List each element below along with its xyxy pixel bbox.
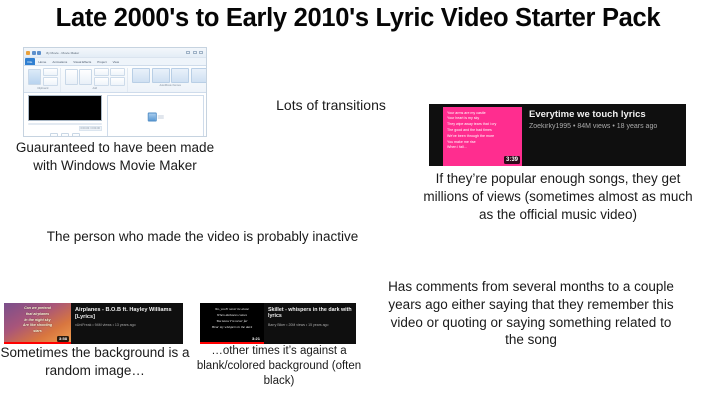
preview-transport-controls [50,133,80,137]
video-thumbnail[interactable]: No, you'll never be alone When darkness … [200,303,264,344]
ribbon-group-label-add: Add [92,87,97,90]
snapshot-button[interactable] [110,77,125,86]
video-title[interactable]: Everytime we touch lyrics [529,109,680,120]
ribbon-group-automovie-themes: AutoMovie themes [130,68,207,92]
next-frame-icon[interactable] [72,133,80,137]
redo-icon[interactable] [37,51,41,55]
theme-thumbnail-1[interactable] [132,68,150,83]
tab-file[interactable]: File [25,58,35,65]
preview-scrubber[interactable] [28,123,102,124]
video-thumbnail[interactable]: Your arms are my castle Your heart is my… [429,104,522,166]
ribbon-group-label-clipboard: Clipboard [37,87,48,90]
theme-thumbnail-3[interactable] [171,68,189,83]
paste-icon[interactable] [28,69,41,85]
random-background-caption: Sometimes the background is a random ima… [0,344,190,380]
add-videos-photos-icon[interactable] [65,69,78,85]
undo-icon[interactable] [32,51,36,55]
video-thumbnail[interactable]: Can we pretend that airplanes In the nig… [4,303,71,344]
tab-view[interactable]: View [110,58,121,65]
video-meta: Skillet - whispers in the dark with lyri… [264,303,356,344]
transitions-caption: Lots of transitions [245,96,417,114]
title-button[interactable] [94,68,109,77]
add-music-icon[interactable] [79,69,92,85]
video-meta: Airplanes - B.O.B ft. Hayley Williams [L… [71,303,183,344]
previous-frame-icon[interactable] [50,133,58,137]
credits-button[interactable] [110,68,125,77]
video-channel-and-stats[interactable]: Barry Biker • 20M views • 15 years ago [268,323,353,327]
blank-background-caption: …other times it’s against a blank/colore… [189,344,369,390]
theme-thumbnail-4[interactable] [191,68,208,83]
youtube-result-card-whispers-in-the-dark[interactable]: No, you'll never be alone When darkness … [200,303,356,344]
comments-caption: Has comments from several months to a co… [385,278,677,349]
video-duration-badge: 3:39 [504,156,520,164]
views-caption: If they’re popular enough songs, they ge… [417,170,699,223]
placeholder-text-lines [158,115,164,118]
tab-animations[interactable]: Animations [50,58,70,65]
inactive-uploader-caption: The person who made the video is probabl… [30,228,375,246]
play-icon[interactable] [61,133,69,137]
close-icon[interactable] [199,51,203,54]
add-media-placeholder-icon[interactable] [147,112,164,121]
video-title[interactable]: Skillet - whispers in the dark with lyri… [268,307,353,320]
youtube-result-card-airplanes[interactable]: Can we pretend that airplanes In the nig… [4,303,183,344]
wmm-window-title: My Movie - Movie Maker [46,51,185,55]
wmm-title-bar: My Movie - Movie Maker [24,48,206,58]
wmm-window-buttons [186,51,203,54]
video-title[interactable]: Airplanes - B.O.B ft. Hayley Williams [L… [75,307,180,320]
windows-movie-maker-window: My Movie - Movie Maker File Home Animati… [23,47,207,137]
wmm-preview-pane: 0:00.00 / 0:00.00 [26,95,104,138]
tab-home[interactable]: Home [36,58,49,65]
movie-maker-caption: Guauranteed to have been made with Windo… [8,139,222,175]
save-icon[interactable] [26,51,30,55]
video-channel-and-stats[interactable]: Zoekirky1995 • 84M views • 18 years ago [529,123,680,132]
ribbon-group-clipboard: Clipboard [26,68,61,92]
thumbnail-lyrics-text: Your arms are my castle Your heart is my… [447,111,522,152]
caption-button[interactable] [94,77,109,86]
copy-button[interactable] [43,77,58,86]
wmm-workspace: 0:00.00 / 0:00.00 [24,93,206,138]
video-meta: Everytime we touch lyrics Zoekirky1995 •… [522,104,686,166]
maximize-icon[interactable] [193,51,197,54]
theme-thumbnail-2[interactable] [152,68,170,83]
media-thumb-icon [147,112,156,121]
tab-visual-effects[interactable]: Visual Effects [71,58,94,65]
minimize-icon[interactable] [186,51,190,54]
cut-button[interactable] [43,68,58,77]
tab-project[interactable]: Project [95,58,109,65]
video-channel-and-stats[interactable]: xUniFreak • 94M views • 13 years ago [75,323,180,327]
video-preview-monitor[interactable] [28,95,102,122]
storyboard-timeline[interactable] [107,95,204,138]
thumbnail-lyrics-text: No, you'll never be alone When darkness … [200,307,264,331]
ribbon-group-label-automovie-themes: AutoMovie themes [160,84,181,87]
wmm-ribbon-tabs: File Home Animations Visual Effects Proj… [24,58,206,66]
youtube-result-card-everytime-we-touch[interactable]: Your arms are my castle Your heart is my… [429,104,686,166]
preview-timecode: 0:00.00 / 0:00.00 [79,126,102,131]
wmm-ribbon: Clipboard Add [24,66,206,93]
page-title: Late 2000's to Early 2010's Lyric Video … [0,4,716,33]
thumbnail-lyrics-text: Can we pretend that airplanes In the nig… [4,306,71,335]
ribbon-group-add: Add [63,68,129,92]
